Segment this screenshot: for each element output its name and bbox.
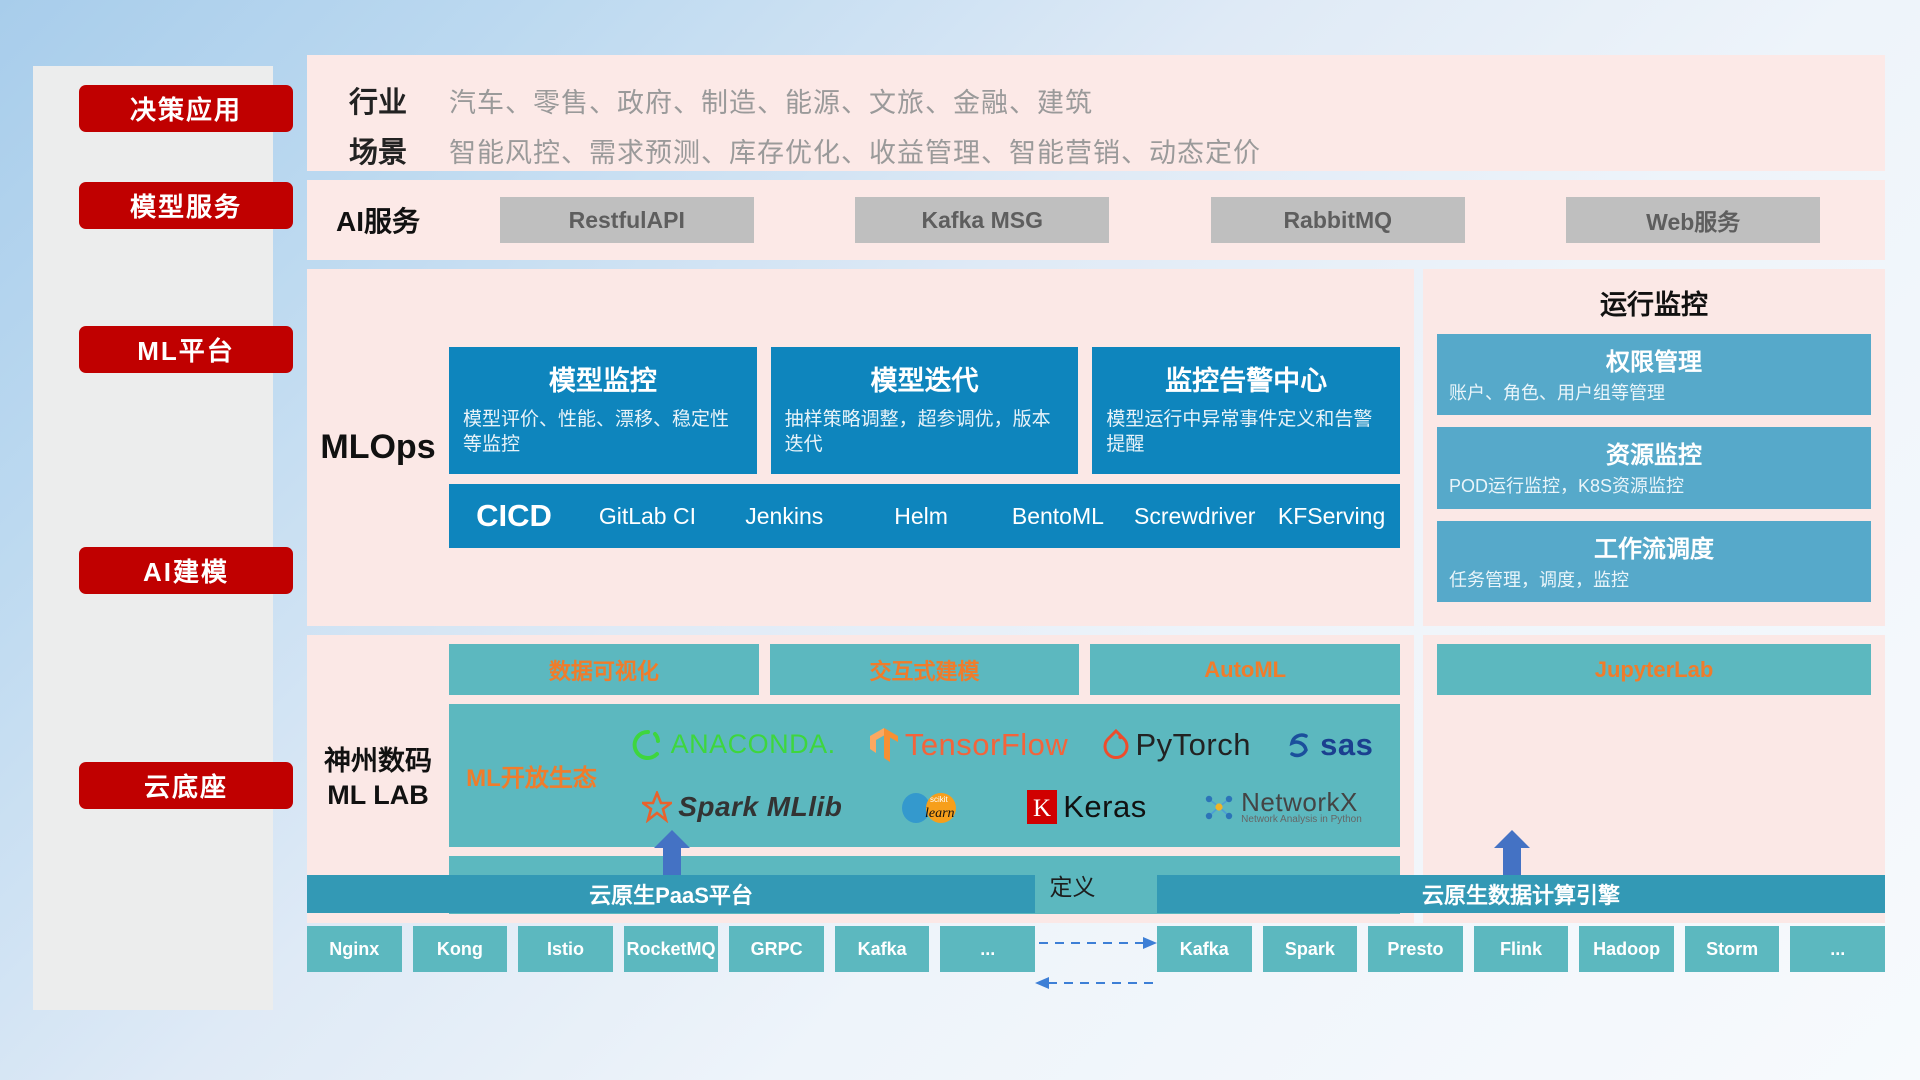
card-desc: 模型评价、性能、漂移、稳定性等监控 xyxy=(463,408,743,457)
tool-interactive-modeling[interactable]: 交互式建模 xyxy=(770,644,1080,695)
card-desc: 任务管理，调度，监控 xyxy=(1449,569,1859,592)
anaconda-label: ANACONDA. xyxy=(671,729,836,760)
keras-icon: K xyxy=(1027,790,1057,824)
networkx-sublabel: Network Analysis in Python xyxy=(1241,815,1362,825)
chip-spark[interactable]: Spark xyxy=(1263,926,1358,972)
pytorch-label: PyTorch xyxy=(1136,727,1251,763)
anaconda-icon xyxy=(631,728,665,762)
card-desc: 模型运行中异常事件定义和告警提醒 xyxy=(1106,408,1386,457)
paas-chip-group: Nginx Kong Istio RocketMQ GRPC Kafka ... xyxy=(307,926,1035,972)
sas-icon xyxy=(1284,730,1314,760)
service-restful-api[interactable]: RestfulAPI xyxy=(500,197,754,243)
cicd-item-bentoml[interactable]: BentoML xyxy=(989,504,1126,528)
card-desc: 账户、角色、用户组等管理 xyxy=(1449,382,1859,405)
pytorch-icon xyxy=(1102,729,1130,761)
tool-data-visualization[interactable]: 数据可视化 xyxy=(449,644,759,695)
scenario-label: 场景 xyxy=(307,129,449,171)
layer-tag-ai-modeling[interactable]: AI建模 xyxy=(79,547,293,594)
layer-tag-model-service[interactable]: 模型服务 xyxy=(79,182,293,229)
card-title: 监控告警中心 xyxy=(1106,359,1386,398)
card-title: 工作流调度 xyxy=(1449,529,1859,564)
chip-flink[interactable]: Flink xyxy=(1474,926,1569,972)
cloud-bars: 云原生PaaS平台 云原生数据计算引擎 xyxy=(307,875,1885,913)
cicd-title: CICD xyxy=(449,498,579,534)
monitor-card-permission[interactable]: 权限管理 账户、角色、用户组等管理 xyxy=(1437,334,1871,415)
data-engine-bar[interactable]: 云原生数据计算引擎 xyxy=(1157,875,1885,913)
svg-text:K: K xyxy=(1033,795,1051,822)
ml-platform-row: MLOps 模型监控 模型评价、性能、漂移、稳定性等监控 模型迭代 抽样策略调整… xyxy=(307,269,1885,626)
arrow-up-paas-icon xyxy=(652,830,692,878)
scikit-learn-logo: scikit learn xyxy=(899,790,971,824)
cicd-item-kfserving[interactable]: KFServing xyxy=(1263,504,1400,528)
service-kafka-msg[interactable]: Kafka MSG xyxy=(855,197,1109,243)
tensorflow-logo: TensorFlow xyxy=(869,727,1069,763)
spark-mllib-label: Spark MLlib xyxy=(678,791,842,823)
chip-nginx[interactable]: Nginx xyxy=(307,926,402,972)
paas-platform-bar[interactable]: 云原生PaaS平台 xyxy=(307,875,1035,913)
eco-logo-grid: ANACONDA. TensorFlow xyxy=(614,716,1400,836)
ml-lab-tool-row: 数据可视化 交互式建模 AutoML xyxy=(449,644,1400,695)
monitor-card-resource[interactable]: 资源监控 POD运行监控，K8S资源监控 xyxy=(1437,427,1871,508)
cicd-item-gitlab[interactable]: GitLab CI xyxy=(579,504,716,528)
ml-lab-label-line2: ML LAB xyxy=(307,779,449,813)
chip-istio[interactable]: Istio xyxy=(518,926,613,972)
svg-text:scikit: scikit xyxy=(930,795,949,804)
pytorch-logo: PyTorch xyxy=(1102,727,1251,763)
mlops-body: 模型监控 模型评价、性能、漂移、稳定性等监控 模型迭代 抽样策略调整，超参调优，… xyxy=(449,347,1414,547)
tensorflow-icon xyxy=(869,727,899,763)
networkx-label: NetworkX xyxy=(1241,789,1362,815)
card-title: 模型监控 xyxy=(463,359,743,398)
ml-lab-label-line1: 神州数码 xyxy=(307,745,449,779)
tool-automl[interactable]: AutoML xyxy=(1090,644,1400,695)
ai-service-grid: RestfulAPI Kafka MSG RabbitMQ Web服务 xyxy=(449,197,1885,243)
cicd-item-helm[interactable]: Helm xyxy=(853,504,990,528)
networkx-logo: NetworkX Network Analysis in Python xyxy=(1203,789,1362,825)
anaconda-logo: ANACONDA. xyxy=(631,728,836,762)
industry-label: 行业 xyxy=(307,79,449,121)
card-title: 权限管理 xyxy=(1449,342,1859,377)
arrow-up-engine-icon xyxy=(1492,830,1532,878)
spark-star-icon xyxy=(642,791,672,823)
eco-label: ML开放生态 xyxy=(449,758,614,793)
runtime-monitor-title: 运行监控 xyxy=(1437,283,1871,322)
ml-lab-body: 数据可视化 交互式建模 AutoML ML开放生态 xyxy=(449,644,1414,914)
runtime-monitor-panel: 运行监控 权限管理 账户、角色、用户组等管理 资源监控 POD运行监控，K8S资… xyxy=(1423,269,1885,626)
layer-tag-cloud-base[interactable]: 云底座 xyxy=(79,762,293,809)
keras-label: Keras xyxy=(1063,789,1146,825)
cicd-item-screwdriver[interactable]: Screwdriver xyxy=(1126,504,1263,528)
chip-grpc[interactable]: GRPC xyxy=(729,926,824,972)
chip-hadoop[interactable]: Hadoop xyxy=(1579,926,1674,972)
service-rabbitmq[interactable]: RabbitMQ xyxy=(1211,197,1465,243)
layer-tag-decision[interactable]: 决策应用 xyxy=(79,85,293,132)
mlops-label: MLOps xyxy=(307,428,449,467)
chip-kafka-paas[interactable]: Kafka xyxy=(835,926,930,972)
ml-lab-label: 神州数码 ML LAB xyxy=(307,745,449,813)
monitor-card-workflow[interactable]: 工作流调度 任务管理，调度，监控 xyxy=(1437,521,1871,602)
chip-storm[interactable]: Storm xyxy=(1685,926,1780,972)
sas-label: sas xyxy=(1320,727,1373,763)
mlops-band: MLOps 模型监控 模型评价、性能、漂移、稳定性等监控 模型迭代 抽样策略调整… xyxy=(307,269,1414,626)
scenario-list: 智能风控、需求预测、库存优化、收益管理、智能营销、动态定价 xyxy=(449,131,1261,170)
cloud-base-section: 云原生PaaS平台 云原生数据计算引擎 Nginx Kong Istio Roc… xyxy=(307,875,1885,972)
card-desc: POD运行监控，K8S资源监控 xyxy=(1449,475,1859,498)
networkx-icon xyxy=(1203,791,1235,823)
tensorflow-label: TensorFlow xyxy=(905,727,1069,763)
card-title: 资源监控 xyxy=(1449,435,1859,470)
eco-logo-row-2: Spark MLlib scikit learn xyxy=(614,778,1390,836)
architecture-diagram: 决策应用 模型服务 ML平台 AI建模 云底座 行业 汽车、零售、政府、制造、能… xyxy=(0,0,1920,1080)
sas-logo: sas xyxy=(1284,727,1373,763)
chip-presto[interactable]: Presto xyxy=(1368,926,1463,972)
cicd-bar: CICD GitLab CI Jenkins Helm BentoML Scre… xyxy=(449,484,1400,548)
chip-kafka-engine[interactable]: Kafka xyxy=(1157,926,1252,972)
layer-tag-ml-platform[interactable]: ML平台 xyxy=(79,326,293,373)
engine-chip-group: Kafka Spark Presto Flink Hadoop Storm ..… xyxy=(1157,926,1885,972)
chip-rocketmq[interactable]: RocketMQ xyxy=(624,926,719,972)
bidirectional-connector xyxy=(1035,921,1159,997)
cicd-item-jenkins[interactable]: Jenkins xyxy=(716,504,853,528)
tool-jupyterlab[interactable]: JupyterLab xyxy=(1437,644,1871,695)
scikit-learn-icon: scikit learn xyxy=(899,790,971,824)
spark-mllib-logo: Spark MLlib xyxy=(642,791,842,823)
card-title: 模型迭代 xyxy=(785,359,1065,398)
ai-service-band: AI服务 RestfulAPI Kafka MSG RabbitMQ Web服务 xyxy=(307,180,1885,260)
industry-row: 行业 汽车、零售、政府、制造、能源、文旅、金融、建筑 xyxy=(307,75,1885,125)
mlops-card-model-iteration[interactable]: 模型迭代 抽样策略调整，超参调优，版本迭代 xyxy=(771,347,1079,473)
chip-more-paas[interactable]: ... xyxy=(940,926,1035,972)
svg-text:learn: learn xyxy=(925,806,955,821)
ml-open-ecosystem: ML开放生态 ANACONDA. xyxy=(449,704,1400,847)
scenario-row: 场景 智能风控、需求预测、库存优化、收益管理、智能营销、动态定价 xyxy=(307,125,1885,175)
ai-service-label: AI服务 xyxy=(307,200,449,240)
service-web[interactable]: Web服务 xyxy=(1566,197,1820,243)
layer-rail: 决策应用 模型服务 ML平台 AI建模 云底座 xyxy=(33,66,273,1010)
mlops-card-model-monitor[interactable]: 模型监控 模型评价、性能、漂移、稳定性等监控 xyxy=(449,347,757,473)
mlops-card-alert-center[interactable]: 监控告警中心 模型运行中异常事件定义和告警提醒 xyxy=(1092,347,1400,473)
chip-kong[interactable]: Kong xyxy=(413,926,508,972)
card-desc: 抽样策略调整，超参调优，版本迭代 xyxy=(785,408,1065,457)
decision-application-band: 行业 汽车、零售、政府、制造、能源、文旅、金融、建筑 场景 智能风控、需求预测、… xyxy=(307,55,1885,171)
chip-more-engine[interactable]: ... xyxy=(1790,926,1885,972)
mlops-card-list: 模型监控 模型评价、性能、漂移、稳定性等监控 模型迭代 抽样策略调整，超参调优，… xyxy=(449,347,1400,473)
eco-logo-row-1: ANACONDA. TensorFlow xyxy=(614,716,1390,774)
main-stack: 行业 汽车、零售、政府、制造、能源、文旅、金融、建筑 场景 智能风控、需求预测、… xyxy=(307,55,1885,923)
keras-logo: K Keras xyxy=(1027,789,1146,825)
industry-list: 汽车、零售、政府、制造、能源、文旅、金融、建筑 xyxy=(449,81,1093,120)
